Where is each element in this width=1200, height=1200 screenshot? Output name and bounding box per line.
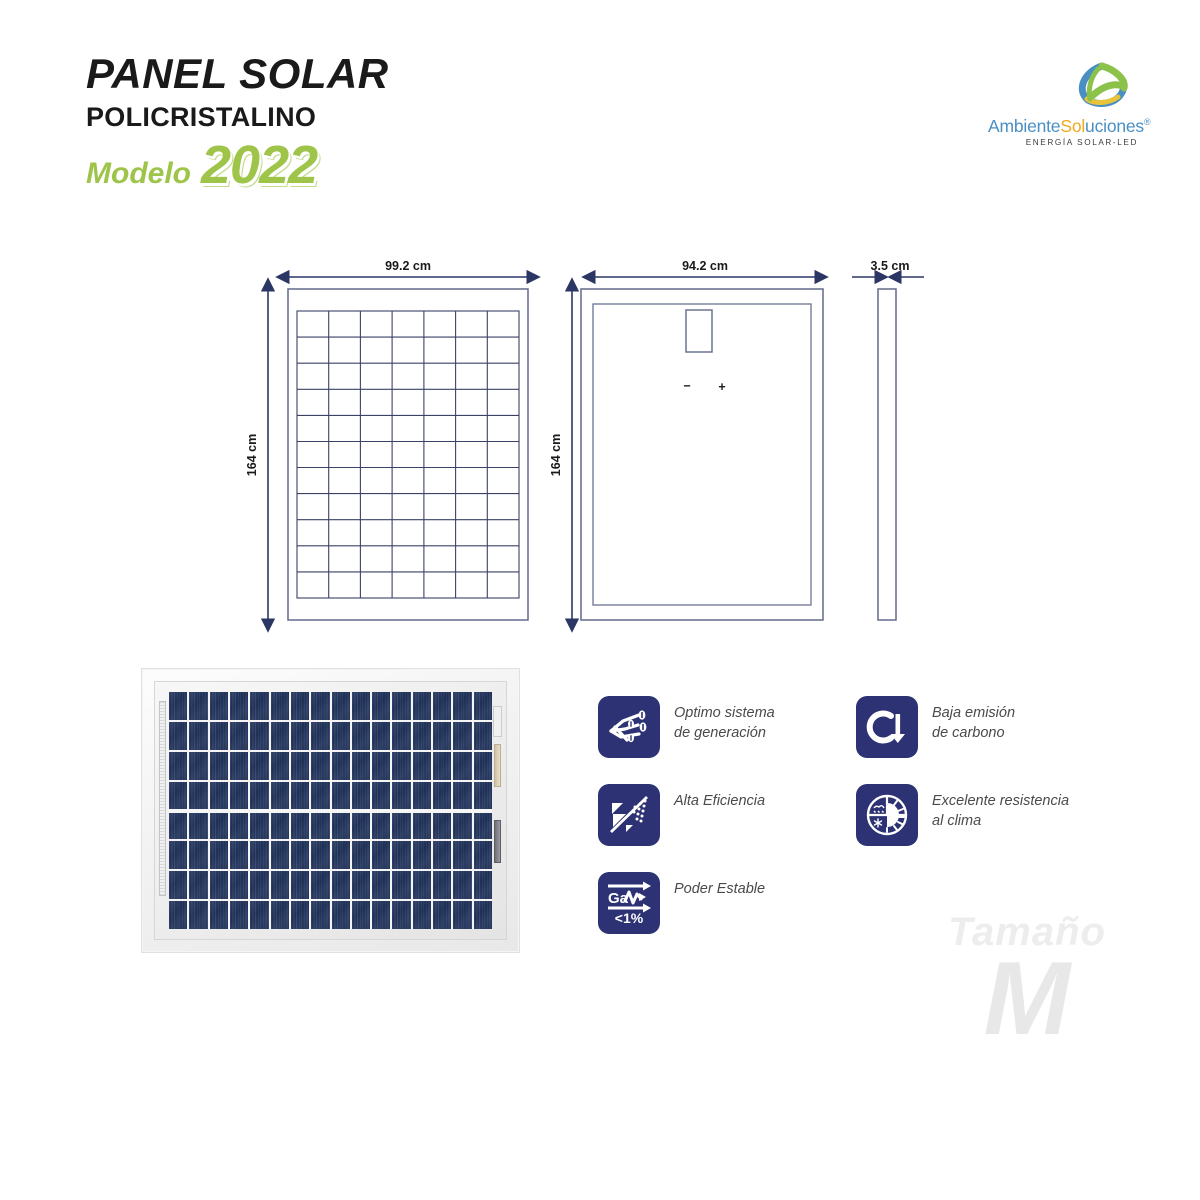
feature-alta-eficiencia: Alta Eficiencia (598, 784, 856, 872)
model-year: 2022 (201, 138, 317, 192)
feature-poder-estable: Ga <1% Poder Estable (598, 872, 856, 960)
watermark-size-letter: M (912, 953, 1142, 1045)
feature-baja-emision-carbono: Baja emisiónde carbono (856, 696, 1158, 784)
trefoil-knot-logo-icon (1066, 58, 1138, 110)
back-height-label: 164 cm (549, 434, 563, 476)
logo-wordmark: AmbienteSoluciones® (988, 113, 1138, 136)
panel-photo-left-rail (159, 701, 166, 895)
panel-photo-label-sticker (493, 706, 502, 737)
size-watermark: Tamaño M (912, 911, 1142, 1045)
feature-resistencia-clima: Excelente resistenciaal clima (856, 784, 1158, 872)
feature-estable-label: Poder Estable (674, 872, 765, 899)
panel-photo-frame (154, 681, 507, 940)
junction-box (686, 310, 712, 352)
model-row: Modelo 2022 (86, 138, 389, 192)
feature-optimo-sistema: Optimo sistemade generación (598, 696, 856, 784)
page-subtitle: POLICRISTALINO (86, 100, 389, 134)
stable-power-percent-text: <1% (615, 910, 644, 926)
brand-logo: AmbienteSoluciones® ENERGÍA SOLAR-LED (988, 58, 1138, 147)
weather-resistance-icon (856, 784, 918, 846)
logo-name-uciones: uciones (1085, 116, 1144, 136)
product-datasheet-page: PANEL SOLAR POLICRISTALINO Modelo 2022 A… (0, 0, 1200, 1200)
diagonal-arrows-icon (598, 784, 660, 846)
side-view-group: 3.5 cm (852, 259, 924, 620)
terminal-negative-label: − (683, 379, 690, 393)
side-thickness-label: 3.5 cm (871, 259, 910, 273)
terminal-positive-label: + (718, 380, 725, 394)
side-profile (878, 289, 896, 620)
registered-mark: ® (1144, 117, 1150, 127)
feature-carbono-label: Baja emisiónde carbono (932, 696, 1015, 743)
stable-power-icon: Ga <1% (598, 872, 660, 934)
panel-photo-cable-strip-2 (494, 820, 501, 863)
front-height-label: 164 cm (245, 434, 259, 476)
feature-clima-label: Excelente resistenciaal clima (932, 784, 1069, 831)
circuit-branch-icon (598, 696, 660, 758)
front-width-label: 99.2 cm (385, 259, 431, 273)
front-frame (288, 289, 528, 620)
panel-product-photo (141, 668, 520, 953)
feature-eficiencia-label: Alta Eficiencia (674, 784, 765, 811)
logo-tagline: ENERGÍA SOLAR-LED (988, 138, 1138, 147)
page-title: PANEL SOLAR (86, 50, 389, 98)
front-view-group: 99.2 cm 164 cm (245, 259, 528, 620)
panel-photo-cable-strip-1 (494, 744, 501, 787)
panel-photo-busbar (169, 809, 492, 813)
feature-optimo-label: Optimo sistemade generación (674, 696, 775, 743)
back-frame (581, 289, 823, 620)
model-label: Modelo (86, 156, 191, 192)
back-width-label: 94.2 cm (682, 259, 728, 273)
logo-name-sol: Sol (1060, 116, 1085, 136)
logo-name-ambiente: Ambiente (988, 116, 1060, 136)
stable-power-ga-text: Ga (608, 890, 629, 907)
back-view-group: 94.2 cm 164 cm − + (549, 259, 823, 620)
panel-photo-cell-array (169, 692, 492, 929)
header-title-block: PANEL SOLAR POLICRISTALINO Modelo 2022 (86, 50, 389, 192)
front-cell-grid (297, 311, 519, 598)
carbon-down-arrow-icon (856, 696, 918, 758)
back-panel-inner (593, 304, 811, 605)
